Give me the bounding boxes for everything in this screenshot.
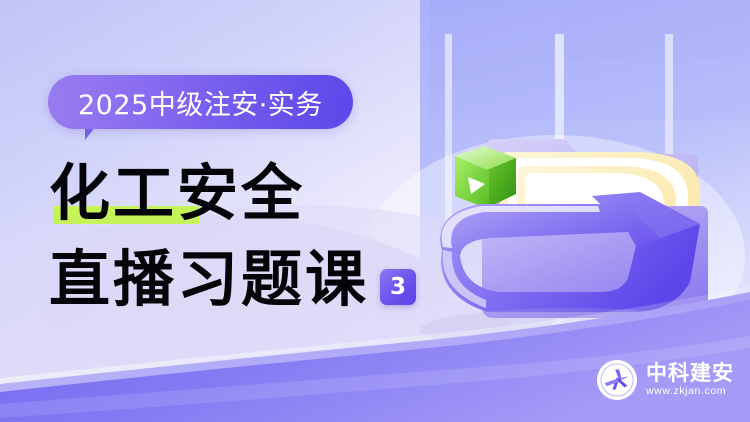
headline-line-2: 直播习题课 3 <box>49 244 416 310</box>
brand-logo-text: 中科建安 www.zkjan.com <box>646 363 734 397</box>
episode-number-badge: 3 <box>380 269 416 305</box>
brand-logo[interactable]: 中科建安 www.zkjan.com <box>597 360 734 400</box>
brand-url: www.zkjan.com <box>646 386 734 397</box>
brand-logo-icon <box>597 360 637 400</box>
course-poster: 2025中级注安·实务 化工安全 直播习题课 3 中科建安 www <box>0 0 750 422</box>
headline-line-1: 化工安全 <box>49 158 416 224</box>
course-category-label: 2025中级注安·实务 <box>78 83 323 122</box>
course-category-badge: 2025中级注安·实务 <box>48 75 353 129</box>
brand-name: 中科建安 <box>646 363 734 384</box>
poster-headline: 化工安全 直播习题课 3 <box>49 158 416 310</box>
episode-number: 3 <box>390 276 406 299</box>
headline-text-primary: 化工安全 <box>49 163 305 224</box>
headline-text-secondary: 直播习题课 <box>49 249 369 310</box>
